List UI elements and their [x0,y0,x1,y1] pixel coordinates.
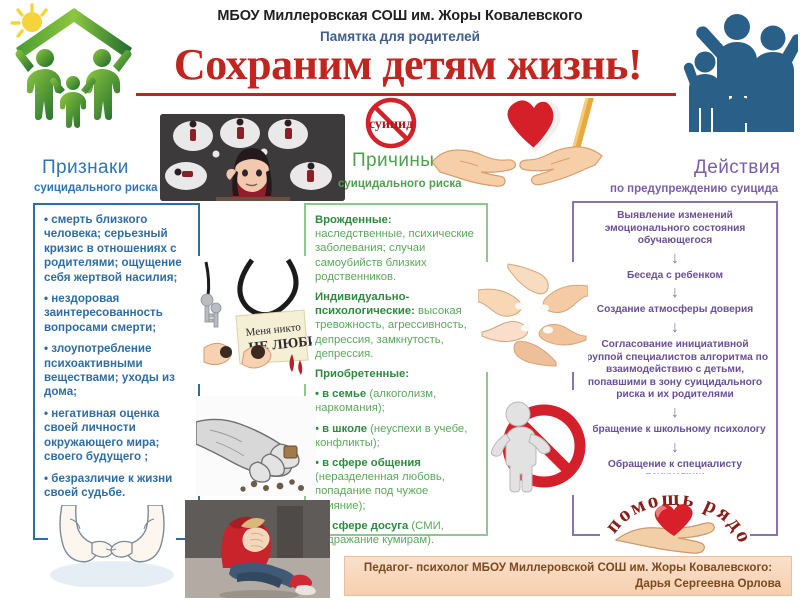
flow-arrow-icon: ↓ [580,405,770,421]
sad-girl-suicidal-thoughts-photo [160,114,345,201]
signs-panel: • смерть близкого человека; серьезный кр… [33,203,200,540]
heart-in-hands-illustration [430,98,605,208]
causes-group: Индивидуально-психологические: высокая т… [315,290,477,361]
flow-arrow-icon: ↓ [580,285,770,301]
causes-panel: Врожденные: наследственные, психические … [304,203,488,536]
causes-group: • в сфере общения (неразделенная любовь,… [315,456,477,513]
suicide-note-drawing: Меня никто НЕ ЛЮБИТ [196,256,312,384]
column-title-causes: Причины [352,150,434,172]
causes-group: Врожденные: наследственные, психические … [315,213,477,284]
column-subtitle-causes: суицидального риска [338,178,462,190]
help-is-near-stamp: помощь рядом [600,474,750,556]
column-title-actions: Действия [694,157,780,179]
holding-hands-drawing [48,505,176,587]
flow-arrow-icon: ↓ [580,320,770,336]
flow-step: Создание атмосферы доверия [580,304,770,317]
flow-step: Обращение к школьному психологу [580,424,770,437]
causes-group: • в сфере досуга (СМИ, подражание кумира… [315,519,477,547]
hand-with-pills-drawing [196,396,316,496]
flow-arrow-icon: ↓ [580,440,770,456]
causes-group-text: (неразделенная любовь, попадание под чуж… [315,471,445,511]
page-title: Сохраним детям жизнь! [128,42,688,88]
signs-item: • нездоровая заинтересованность вопросам… [44,292,190,335]
flow-arrow-icon: ↓ [580,251,770,267]
signs-item: • безразличие к жизни своей судьбе. [44,472,190,501]
signs-item: • смерть близкого человека; серьезный кр… [44,213,190,285]
blue-family-logo [683,2,798,132]
flow-step: Выявление изменений эмоционального состо… [580,210,770,248]
footer-line-2: Дарья Сергеевна Орлова [355,576,781,592]
team-hands-together-photo [478,262,588,372]
footer-credit: Педагог- психолог МБОУ Миллеровской СОШ … [344,556,792,596]
causes-group-label: • в семье [315,388,366,400]
depressed-teen-sitting-photo [185,500,330,598]
causes-group: • в семье (алкоголизм, наркомания); [315,387,477,415]
signs-item: • злоупотребление психоактивными веществ… [44,342,190,400]
column-title-signs: Признаки [42,157,129,179]
causes-group-text: наследственные, психические заболевания;… [315,228,474,283]
signs-item: • негативная оценка своей личности окруж… [44,407,190,465]
footer-line-1: Педагог- психолог МБОУ Миллеровской СОШ … [355,560,781,576]
prohibition-sign-figure-3d [488,390,593,495]
causes-group-label: Индивидуально-психологические: [315,291,415,317]
causes-group: Приобретенные: [315,367,477,381]
ban-label: суицид [369,117,413,132]
causes-group-label: • в сфере общения [315,457,421,469]
flow-step: Согласование инициативной группой специа… [580,339,770,402]
no-suicide-sign: суицид [358,96,424,150]
causes-group-label: • в школе [315,423,367,435]
column-subtitle-actions: по предупреждению суицида [610,183,778,195]
causes-group-label: Приобретенные: [315,368,409,380]
school-name: МБОУ Миллеровская СОШ им. Жоры Ковалевск… [170,8,630,24]
green-family-house-logo [4,2,144,130]
causes-group: • в школе (неуспехи в учебе, конфликты); [315,422,477,450]
column-subtitle-signs: суицидального риска [34,182,158,194]
flow-step: Беседа с ребенком [580,270,770,283]
causes-group-label: Врожденные: [315,214,392,226]
poster-canvas: МБОУ Миллеровская СОШ им. Жоры Ковалевск… [0,0,800,600]
